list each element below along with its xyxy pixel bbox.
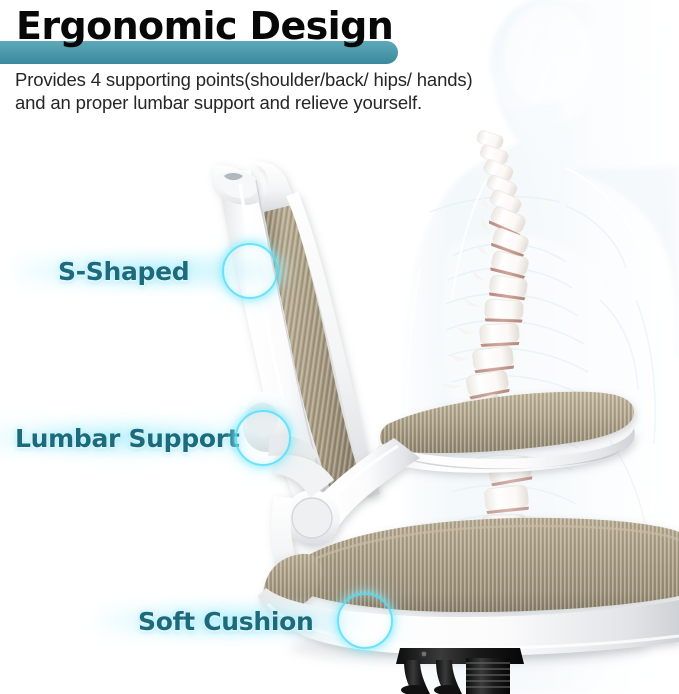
highlight-strokes bbox=[408, 168, 647, 440]
callout-lumbar-support: Lumbar Support bbox=[15, 410, 239, 466]
callout-marker-ring-icon bbox=[222, 243, 278, 299]
header: Ergonomic Design Provides 4 supporting p… bbox=[0, 0, 679, 124]
thoracic-vertebrae bbox=[434, 195, 532, 433]
chair-seat bbox=[258, 518, 679, 656]
callout-soft-cushion: Soft Cushion bbox=[138, 593, 313, 649]
chair-armrest bbox=[271, 392, 634, 596]
page-title: Ergonomic Design bbox=[16, 7, 393, 45]
chair-base bbox=[396, 648, 524, 694]
lumbar-vertebrae bbox=[482, 456, 533, 538]
subtitle-line-1: Provides 4 supporting points(shoulder/ba… bbox=[15, 68, 615, 91]
callout-label: Lumbar Support bbox=[15, 424, 239, 453]
cervical-vertebrae bbox=[476, 129, 523, 215]
callout-marker-ring-icon bbox=[337, 593, 393, 649]
callout-s-shaped: S-Shaped bbox=[58, 243, 189, 299]
callout-label: Soft Cushion bbox=[138, 607, 313, 636]
spine-illustration bbox=[434, 129, 533, 537]
subtitle-line-2: and an proper lumbar support and relieve… bbox=[15, 91, 615, 114]
callout-label: S-Shaped bbox=[58, 257, 189, 286]
rib-lines bbox=[430, 197, 655, 566]
product-feature-image: Ergonomic Design Provides 4 supporting p… bbox=[0, 0, 679, 694]
callout-marker-ring-icon bbox=[235, 410, 291, 466]
subtitle: Provides 4 supporting points(shoulder/ba… bbox=[15, 68, 615, 115]
